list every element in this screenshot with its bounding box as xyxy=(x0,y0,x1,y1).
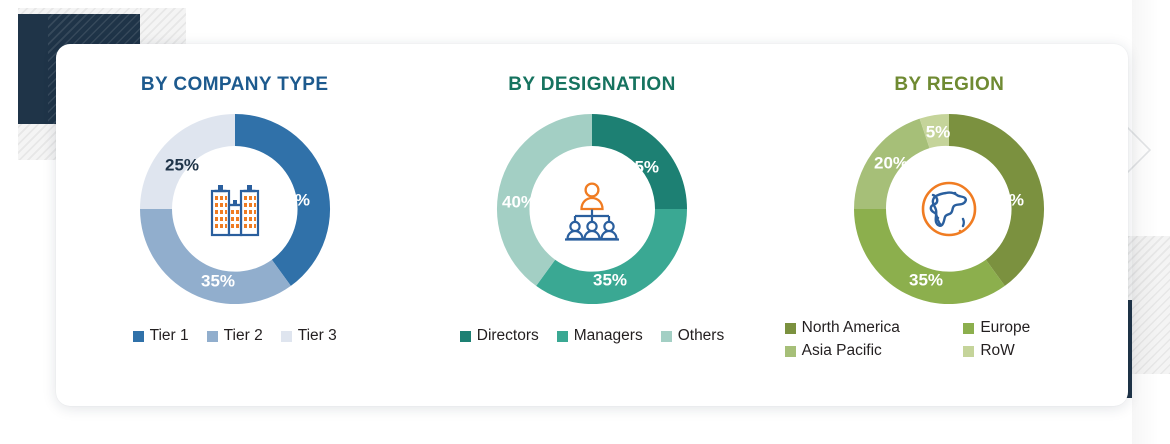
legend-item-tier-2[interactable]: Tier 2 xyxy=(207,327,263,345)
globe-icon xyxy=(913,173,985,245)
legend-swatch-icon xyxy=(207,331,218,342)
legend-swatch-icon xyxy=(557,331,568,342)
legend-item-north-america[interactable]: North America xyxy=(771,319,950,337)
legend-item-others[interactable]: Others xyxy=(661,327,725,345)
donut-label-north-america: 40% xyxy=(990,190,1024,209)
donut-chart-company-type: 40% 35% 25% xyxy=(135,109,335,309)
legend-label: RoW xyxy=(980,342,1014,360)
infographic-canvas: BY COMPANY TYPE 40% 35% 25% xyxy=(0,0,1170,444)
legend-designation: Directors Managers Others xyxy=(413,327,770,345)
donut-chart-designation: 25% 35% 40% xyxy=(492,109,692,309)
legend-label: Managers xyxy=(574,327,643,345)
legend-item-tier-3[interactable]: Tier 3 xyxy=(281,327,337,345)
donut-label-tier-3: 25% xyxy=(165,155,199,174)
legend-swatch-icon xyxy=(785,323,796,334)
panel-by-region: BY REGION 40% 35% 20% 5% xyxy=(771,44,1128,406)
panel-by-company-type: BY COMPANY TYPE 40% 35% 25% xyxy=(56,44,413,406)
legend-company-type: Tier 1 Tier 2 Tier 3 xyxy=(56,327,413,345)
legend-label: Asia Pacific xyxy=(802,342,882,360)
donut-label-managers: 35% xyxy=(593,270,627,289)
legend-swatch-icon xyxy=(785,346,796,357)
donut-label-asia-pacific: 20% xyxy=(874,153,908,172)
decoration-navy-bar-top-left xyxy=(18,14,48,124)
legend-swatch-icon xyxy=(460,331,471,342)
panels-row: BY COMPANY TYPE 40% 35% 25% xyxy=(56,44,1128,406)
legend-item-asia-pacific[interactable]: Asia Pacific xyxy=(771,342,950,360)
legend-label: Europe xyxy=(980,319,1030,337)
legend-swatch-icon xyxy=(281,331,292,342)
legend-label: Others xyxy=(678,327,725,345)
donut-label-tier-1: 40% xyxy=(276,190,310,209)
panel-title-company-type: BY COMPANY TYPE xyxy=(56,74,413,96)
org-chart-people-icon xyxy=(556,173,628,245)
legend-label: Directors xyxy=(477,327,539,345)
panel-by-designation: BY DESIGNATION 25% 35% 40% xyxy=(413,44,770,406)
decoration-right-edge-shading xyxy=(1132,0,1170,444)
donut-label-directors: 25% xyxy=(625,157,659,176)
panel-title-region: BY REGION xyxy=(771,74,1128,96)
legend-label: Tier 3 xyxy=(298,327,337,345)
legend-item-directors[interactable]: Directors xyxy=(460,327,539,345)
donut-label-europe: 35% xyxy=(909,270,943,289)
donut-label-row: 5% xyxy=(926,122,951,141)
legend-label: North America xyxy=(802,319,900,337)
office-buildings-icon xyxy=(199,173,271,245)
legend-label: Tier 2 xyxy=(224,327,263,345)
legend-item-europe[interactable]: Europe xyxy=(949,319,1128,337)
donut-label-others: 40% xyxy=(502,192,536,211)
legend-swatch-icon xyxy=(963,323,974,334)
legend-item-tier-1[interactable]: Tier 1 xyxy=(133,327,189,345)
donut-chart-region: 40% 35% 20% 5% xyxy=(849,109,1049,309)
legend-item-row[interactable]: RoW xyxy=(949,342,1128,360)
panel-title-designation: BY DESIGNATION xyxy=(413,74,770,96)
legend-item-managers[interactable]: Managers xyxy=(557,327,643,345)
content-card: BY COMPANY TYPE 40% 35% 25% xyxy=(56,44,1128,406)
legend-swatch-icon xyxy=(661,331,672,342)
legend-swatch-icon xyxy=(963,346,974,357)
legend-region: North America Europe Asia Pacific RoW xyxy=(771,319,1128,360)
donut-label-tier-2: 35% xyxy=(201,271,235,290)
legend-swatch-icon xyxy=(133,331,144,342)
legend-label: Tier 1 xyxy=(150,327,189,345)
